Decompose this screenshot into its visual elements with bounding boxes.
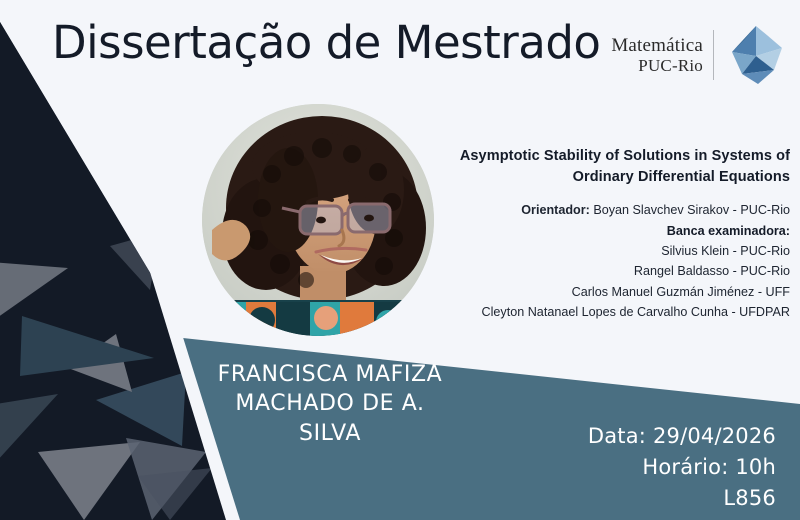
- logo-line-pucrio: PUC-Rio: [611, 56, 703, 75]
- advisor-value: Boyan Slavchev Sirakov - PUC-Rio: [590, 203, 790, 217]
- portrait-image: [202, 104, 434, 336]
- committee-member: Silvius Klein - PUC-Rio: [420, 241, 790, 261]
- advisor-line: Orientador: Boyan Slavchev Sirakov - PUC…: [420, 200, 790, 220]
- logo-divider: [713, 30, 714, 80]
- logo-wordmark: Matemática PUC-Rio: [611, 35, 713, 75]
- logo-line-matematica: Matemática: [611, 35, 703, 56]
- candidate-portrait: [202, 104, 434, 336]
- event-date: Data: 29/04/2026: [588, 421, 776, 452]
- seminar-announcement-poster: Dissertação de Mestrado Matemática PUC-R…: [0, 0, 800, 520]
- event-time: Horário: 10h: [588, 452, 776, 483]
- candidate-name-line-3: SILVA: [196, 419, 464, 448]
- candidate-name-block: FRANCISCA MAFIZA MACHADO DE A. SILVA: [196, 360, 464, 448]
- committee-member: Cleyton Natanael Lopes de Carvalho Cunha…: [420, 302, 790, 322]
- page-title: Dissertação de Mestrado: [52, 18, 600, 68]
- thesis-info-block: Asymptotic Stability of Solutions in Sys…: [420, 146, 790, 323]
- committee-heading: Banca examinadora:: [420, 221, 790, 241]
- committee-member: Carlos Manuel Guzmán Jiménez - UFF: [420, 282, 790, 302]
- candidate-name-line-2: MACHADO DE A.: [196, 389, 464, 418]
- event-room: L856: [588, 483, 776, 514]
- thesis-title: Asymptotic Stability of Solutions in Sys…: [420, 146, 790, 187]
- puc-rio-logo: Matemática PUC-Rio: [611, 22, 788, 88]
- candidate-name-line-1: FRANCISCA MAFIZA: [196, 360, 464, 389]
- advisor-label: Orientador:: [521, 203, 590, 217]
- puc-rio-octahedron-logo-icon: [724, 22, 788, 88]
- committee-member: Rangel Baldasso - PUC-Rio: [420, 261, 790, 281]
- event-details-block: Data: 29/04/2026 Horário: 10h L856: [588, 421, 776, 514]
